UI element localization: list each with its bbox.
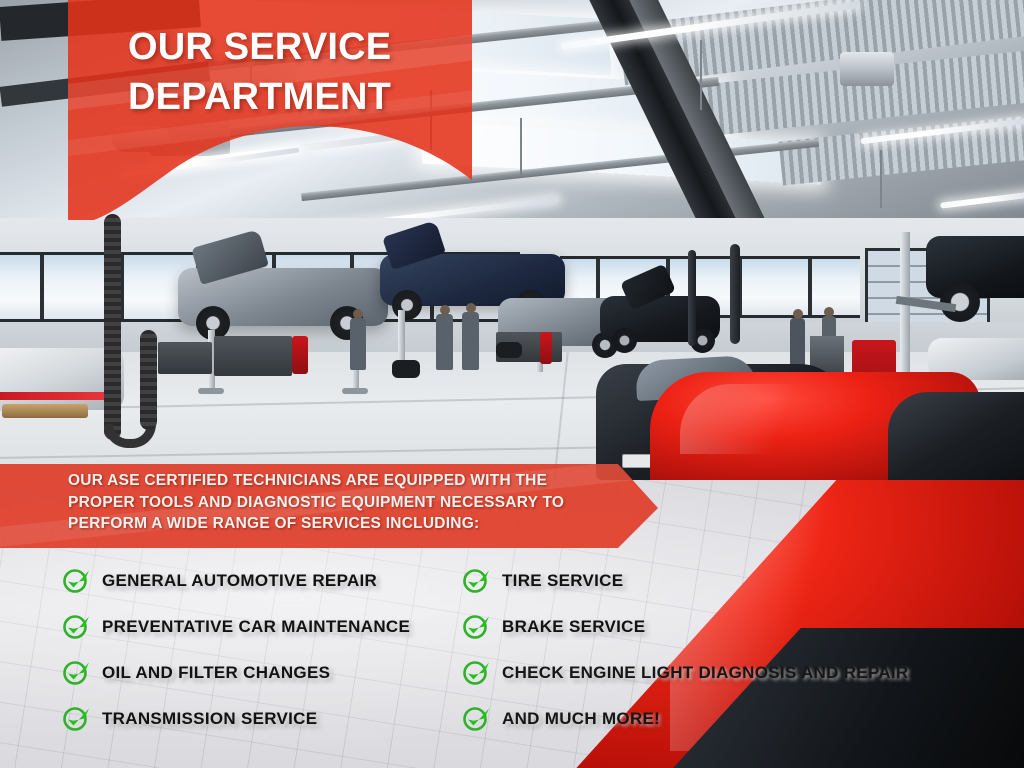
hanger-rod xyxy=(520,118,522,176)
page-title: OUR SERVICE DEPARTMENT xyxy=(128,22,428,122)
page-title-line-1: OUR SERVICE xyxy=(128,22,428,72)
list-item-label: OIL AND FILTER CHANGES xyxy=(102,663,330,683)
hanger-rod xyxy=(700,40,702,110)
ventilation-duct xyxy=(840,52,894,86)
intro-text: OUR ASE CERTIFIED TECHNICIANS ARE EQUIPP… xyxy=(68,470,608,535)
list-item: OIL AND FILTER CHANGES xyxy=(62,650,410,696)
check-circle-icon xyxy=(62,614,92,640)
list-item: AND MUCH MORE! xyxy=(462,696,909,742)
list-item-label: GENERAL AUTOMOTIVE REPAIR xyxy=(102,571,377,591)
mechanic xyxy=(790,318,805,366)
tire-stack xyxy=(496,342,522,358)
mechanic xyxy=(462,312,479,370)
foreground-dark-car-right xyxy=(888,392,1024,480)
check-circle-icon xyxy=(462,614,492,640)
exhaust-extraction-hose xyxy=(104,214,121,440)
fluorescent-light xyxy=(940,189,1024,208)
car-wheel xyxy=(612,328,637,353)
lift-post-base xyxy=(198,388,224,394)
hanger-rod xyxy=(880,150,882,208)
list-item: CHECK ENGINE LIGHT DIAGNOSIS AND REPAIR xyxy=(462,650,909,696)
page-title-line-2: DEPARTMENT xyxy=(128,72,428,122)
car-tail-light-strip xyxy=(0,392,112,400)
list-item-label: BRAKE SERVICE xyxy=(502,617,645,637)
red-car-gloss xyxy=(680,384,850,454)
list-item-label: AND MUCH MORE! xyxy=(502,709,660,729)
floor-joint xyxy=(553,352,569,480)
car-wheel xyxy=(392,290,422,320)
check-circle-icon xyxy=(462,568,492,594)
list-item: BRAKE SERVICE xyxy=(462,604,909,650)
mechanic xyxy=(436,314,453,370)
list-item: TRANSMISSION SERVICE xyxy=(62,696,410,742)
services-column-left: GENERAL AUTOMOTIVE REPAIR PREVENTATIVE C… xyxy=(62,558,410,742)
exhaust-extraction-hose xyxy=(688,250,696,346)
list-item: GENERAL AUTOMOTIVE REPAIR xyxy=(62,558,410,604)
services-column-right: TIRE SERVICE BRAKE SERVICE xyxy=(462,558,909,742)
workbench xyxy=(214,336,292,376)
red-tool-cabinet xyxy=(292,336,308,374)
list-item: TIRE SERVICE xyxy=(462,558,909,604)
mechanic xyxy=(350,318,366,370)
list-item: PREVENTATIVE CAR MAINTENANCE xyxy=(62,604,410,650)
check-circle-icon xyxy=(62,568,92,594)
service-department-poster: OUR SERVICE DEPARTMENT GENERAL AUTOM xyxy=(0,0,1024,768)
list-item-label: TRANSMISSION SERVICE xyxy=(102,709,317,729)
list-item-label: PREVENTATIVE CAR MAINTENANCE xyxy=(102,617,410,637)
check-circle-icon xyxy=(462,660,492,686)
exhaust-extraction-hose xyxy=(730,244,740,344)
tire-stack xyxy=(392,360,420,378)
list-item-label: TIRE SERVICE xyxy=(502,571,623,591)
red-tool-cabinet xyxy=(540,332,552,364)
lift-post xyxy=(900,232,910,382)
workbench xyxy=(158,342,212,374)
exhaust-extraction-hose xyxy=(140,330,157,430)
car-bumper xyxy=(2,404,88,418)
check-circle-icon xyxy=(62,660,92,686)
check-circle-icon xyxy=(62,706,92,732)
check-circle-icon xyxy=(462,706,492,732)
list-item-label: CHECK ENGINE LIGHT DIAGNOSIS AND REPAIR xyxy=(502,663,909,683)
lift-post-base xyxy=(342,388,368,394)
